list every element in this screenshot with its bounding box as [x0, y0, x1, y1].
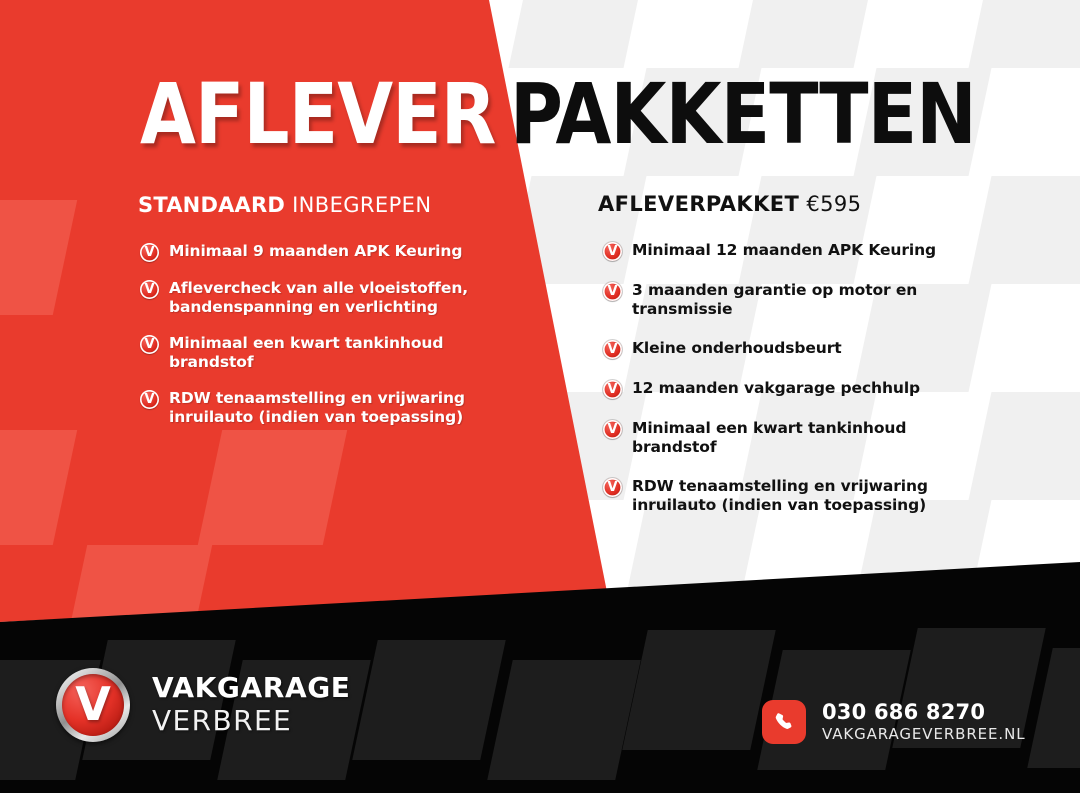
list-item: V Minimaal een kwart tankinhoud brandsto… — [603, 419, 993, 457]
list-item-label: Minimaal een kwart tankinhoud brandstof — [159, 334, 512, 372]
list-item-label: RDW tenaamstelling en vrijwaring inruila… — [622, 477, 993, 515]
website-url[interactable]: VAKGARAGEVERBREE.NL — [822, 724, 1025, 744]
checker-cell — [487, 660, 641, 780]
v-badge-icon: V — [140, 390, 159, 409]
page-title-part-aflever: AFLEVER — [140, 66, 496, 162]
list-item: V Kleine onderhoudsbeurt — [603, 339, 993, 359]
list-item: V 3 maanden garantie op motor en transmi… — [603, 281, 993, 319]
list-item: V Minimaal 9 maanden APK Keuring — [140, 242, 512, 262]
list-item-label: Minimaal 12 maanden APK Keuring — [622, 241, 936, 260]
logo-glyph: V — [62, 674, 124, 736]
v-badge-icon: V — [603, 420, 622, 439]
brand-name: VAKGARAGE VERBREE — [152, 672, 351, 738]
list-item: V RDW tenaamstelling en vrijwaring inrui… — [603, 477, 993, 515]
left-column-header-light: INBEGREPEN — [292, 193, 431, 217]
vakgarage-v-logo-icon: V — [56, 668, 130, 742]
list-item-label: Minimaal een kwart tankinhoud brandstof — [622, 419, 993, 457]
checker-cell — [509, 0, 647, 68]
v-badge-icon: V — [603, 380, 622, 399]
brand-logo: V VAKGARAGE VERBREE — [56, 668, 351, 742]
list-item-label: RDW tenaamstelling en vrijwaring inruila… — [159, 389, 512, 427]
checker-cell — [0, 430, 77, 545]
v-badge-icon: V — [603, 242, 622, 261]
v-badge-icon: V — [140, 335, 159, 354]
list-item: V RDW tenaamstelling en vrijwaring inrui… — [140, 389, 512, 427]
brand-name-line2: VERBREE — [152, 704, 351, 738]
contact-text: 030 686 8270 VAKGARAGEVERBREE.NL — [822, 700, 1025, 744]
v-badge-icon: V — [603, 478, 622, 497]
list-item: V 12 maanden vakgarage pechhulp — [603, 379, 993, 399]
list-item-label: Minimaal 9 maanden APK Keuring — [159, 242, 462, 261]
list-item-label: Aflevercheck van alle vloeistoffen, band… — [159, 279, 512, 317]
list-item: V Minimaal 12 maanden APK Keuring — [603, 241, 993, 261]
checker-cell — [0, 200, 77, 315]
list-item-label: 12 maanden vakgarage pechhulp — [622, 379, 920, 398]
phone-icon[interactable] — [762, 700, 806, 744]
phone-number[interactable]: 030 686 8270 — [822, 700, 1025, 724]
v-badge-icon: V — [603, 340, 622, 359]
brand-name-line1: VAKGARAGE — [152, 672, 351, 704]
poster-canvas: AFLEVER PAKKETTEN STANDAARD INBEGREPEN A… — [0, 0, 1080, 810]
right-column-price: €595 — [806, 192, 861, 216]
v-badge-icon: V — [603, 282, 622, 301]
bottom-strip — [0, 793, 1080, 810]
checker-cell — [198, 430, 347, 545]
v-badge-icon: V — [140, 243, 159, 262]
checker-cell — [622, 630, 776, 750]
checker-cell — [352, 640, 506, 760]
page-title: AFLEVER PAKKETTEN — [0, 66, 1080, 166]
v-badge-icon: V — [140, 280, 159, 299]
list-item-label: Kleine onderhoudsbeurt — [622, 339, 842, 358]
afleverpakket-list: V Minimaal 12 maanden APK Keuring V 3 ma… — [603, 241, 993, 535]
checker-cell — [739, 0, 877, 68]
standaard-inbegrepen-list: V Minimaal 9 maanden APK Keuring V Aflev… — [140, 242, 512, 444]
right-column-header-strong: AFLEVERPAKKET — [598, 192, 799, 216]
left-column-header-strong: STANDAARD — [138, 193, 285, 217]
left-column-header: STANDAARD INBEGREPEN — [138, 193, 431, 217]
right-column-header: AFLEVERPAKKET €595 — [598, 192, 861, 216]
page-title-part-pakketten: PAKKETTEN — [510, 66, 976, 162]
list-item: V Aflevercheck van alle vloeistoffen, ba… — [140, 279, 512, 317]
checker-cell — [969, 0, 1080, 68]
contact-info[interactable]: 030 686 8270 VAKGARAGEVERBREE.NL — [762, 700, 1025, 744]
list-item: V Minimaal een kwart tankinhoud brandsto… — [140, 334, 512, 372]
list-item-label: 3 maanden garantie op motor en transmiss… — [622, 281, 993, 319]
